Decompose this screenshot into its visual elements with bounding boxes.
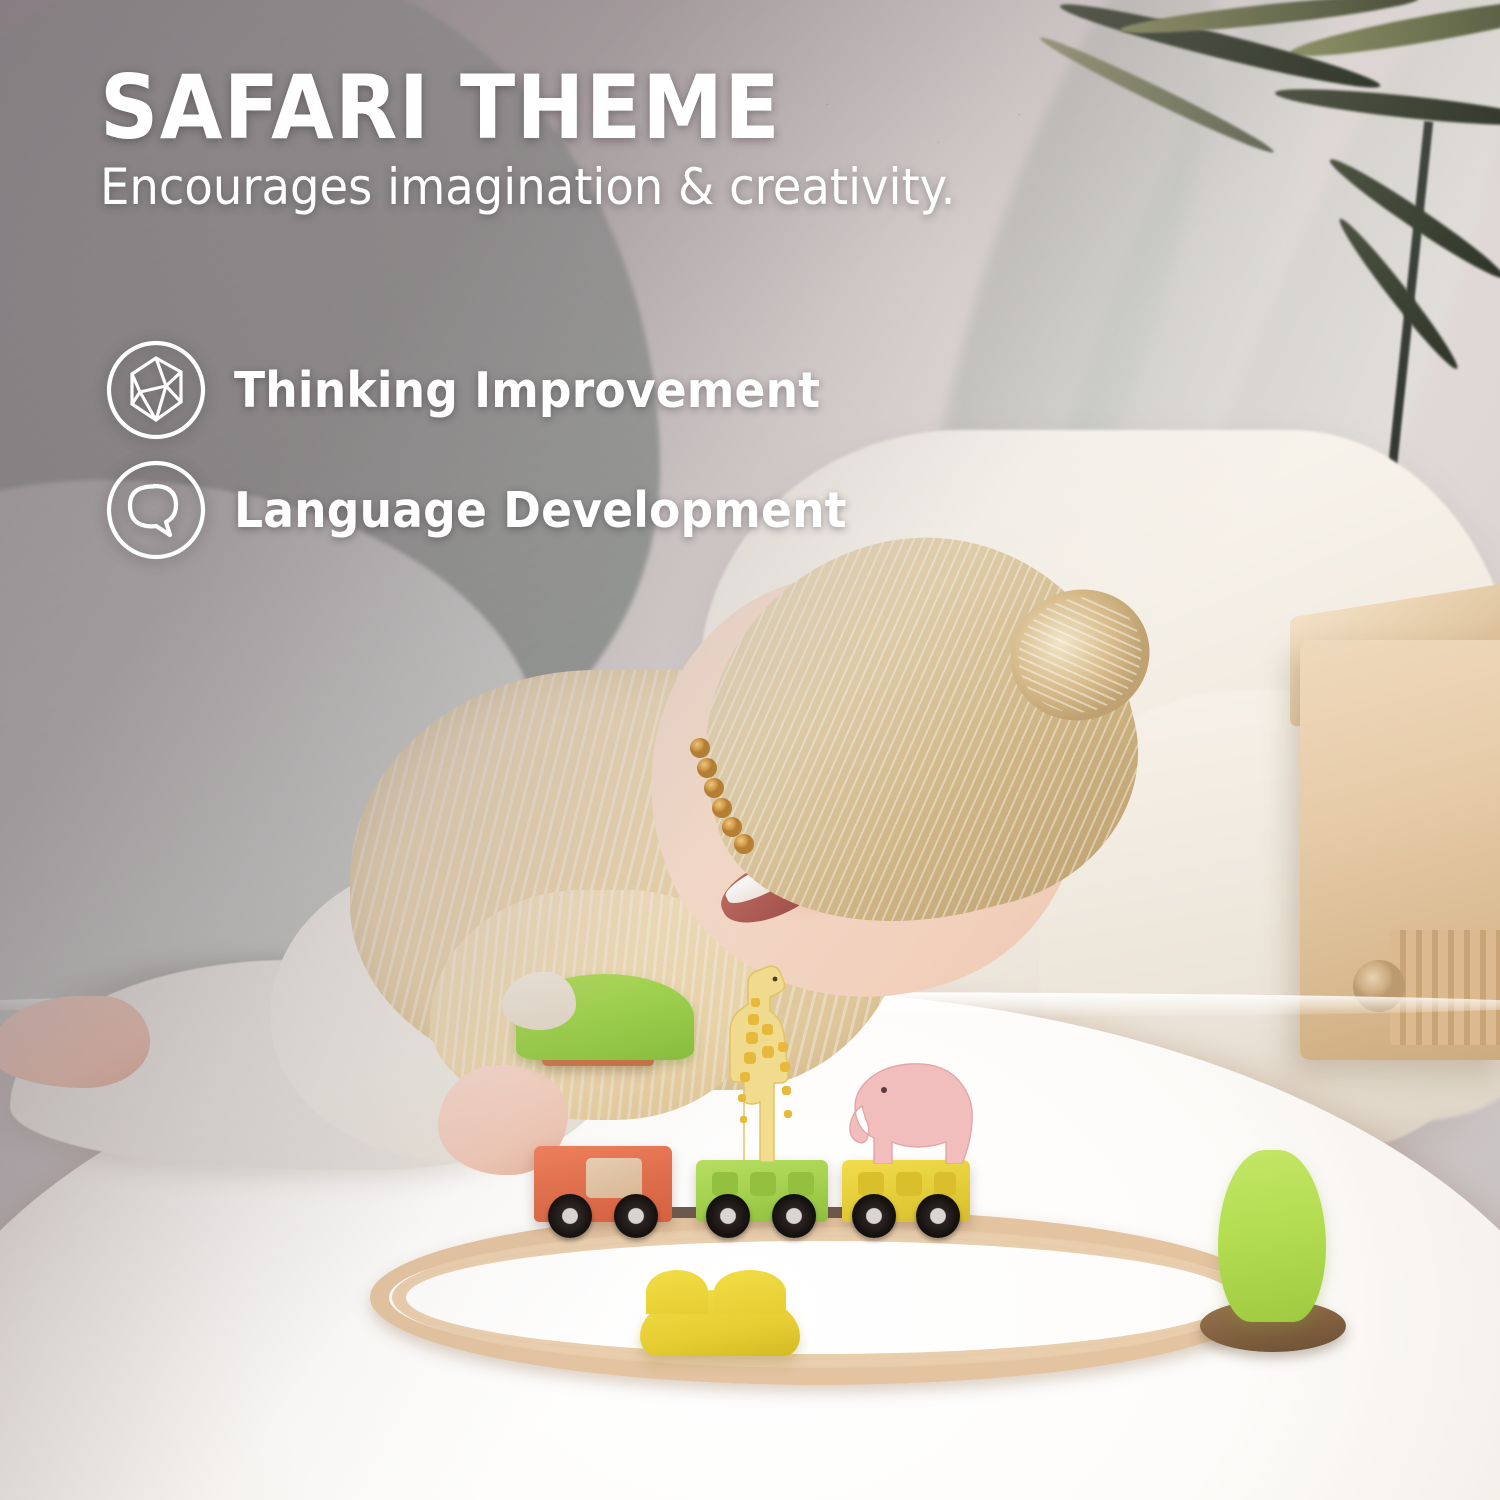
feature-item-language-development: Language Development bbox=[104, 450, 1004, 570]
feature-label: Thinking Improvement bbox=[234, 362, 820, 419]
feature-item-thinking-improvement: Thinking Improvement bbox=[104, 330, 1004, 450]
page-title: SAFARI THEME bbox=[100, 66, 1029, 150]
speech-bubble-icon bbox=[104, 458, 208, 562]
headline-block: SAFARI THEME Encourages imagination & cr… bbox=[100, 66, 1110, 213]
feature-list: Thinking Improvement Language Developmen… bbox=[104, 330, 1004, 570]
polyhedron-icon bbox=[104, 338, 208, 442]
feature-label: Language Development bbox=[234, 482, 847, 539]
product-marketing-image: SAFARI THEME Encourages imagination & cr… bbox=[0, 0, 1500, 1500]
text-contrast-overlay bbox=[0, 0, 1500, 1500]
page-subtitle: Encourages imagination & creativity. bbox=[100, 162, 1039, 213]
